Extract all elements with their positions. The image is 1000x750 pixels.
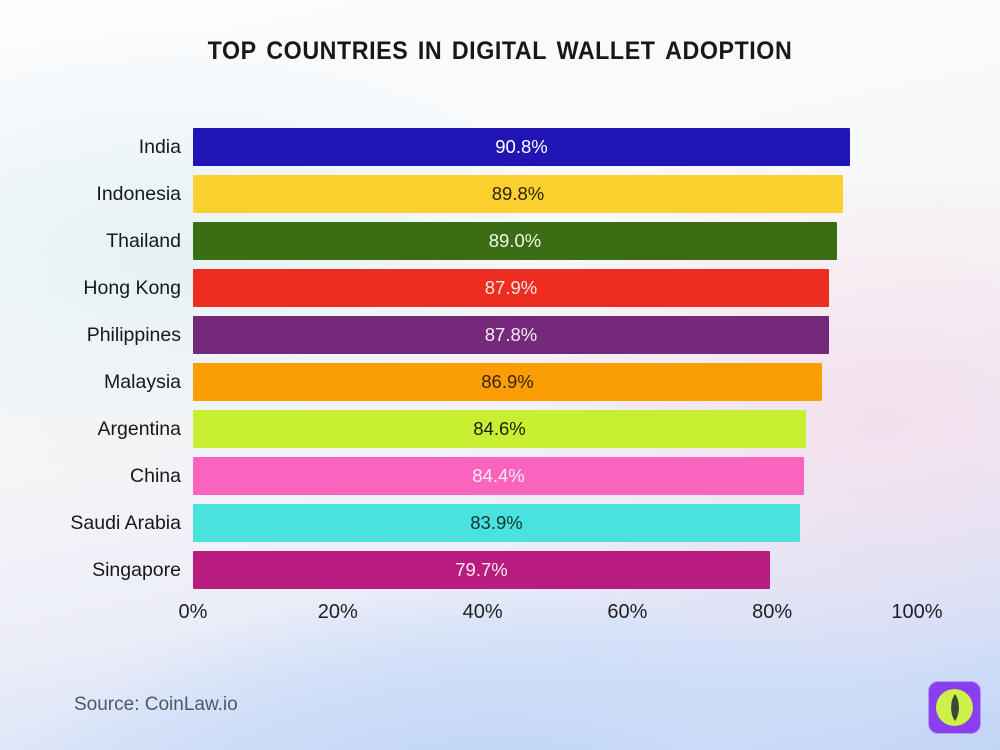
x-axis-tick-label: 20% (278, 598, 398, 626)
bar-category-label: Saudi Arabia (0, 504, 181, 542)
bar-track: 89.0% (193, 222, 917, 260)
bar-value-label: 87.8% (193, 316, 829, 354)
bar-category-label: India (0, 128, 181, 166)
bar-value-label: 83.9% (193, 504, 800, 542)
bar-category-label: Hong Kong (0, 269, 181, 307)
bar-row: Singapore79.7% (0, 551, 1000, 589)
bar-row: Saudi Arabia83.9% (0, 504, 1000, 542)
bar-track: 79.7% (193, 551, 917, 589)
bar-row: Malaysia86.9% (0, 363, 1000, 401)
bar-track: 87.8% (193, 316, 917, 354)
bar-row: Philippines87.8% (0, 316, 1000, 354)
x-axis-tick-label: 60% (567, 598, 687, 626)
bar-value-label: 90.8% (193, 128, 850, 166)
bar-row: China84.4% (0, 457, 1000, 495)
bar-row: Argentina84.6% (0, 410, 1000, 448)
bar-track: 84.4% (193, 457, 917, 495)
bar-value-label: 87.9% (193, 269, 829, 307)
bar-value-label: 84.6% (193, 410, 806, 448)
bar-category-label: Singapore (0, 551, 181, 589)
bar-value-label: 79.7% (193, 551, 770, 589)
bar-value-label: 84.4% (193, 457, 804, 495)
bar-value-label: 89.0% (193, 222, 837, 260)
bar-track: 89.8% (193, 175, 917, 213)
x-axis-tick-label: 100% (857, 598, 977, 626)
page-title: Top Countries in Digital Wallet Adoption (35, 26, 965, 70)
x-axis-tick-label: 0% (133, 598, 253, 626)
x-axis-tick-label: 40% (423, 598, 543, 626)
bar-track: 86.9% (193, 363, 917, 401)
x-axis-tick-label: 80% (712, 598, 832, 626)
coinlaw-logo (929, 682, 980, 733)
logo-leaf-icon (945, 692, 965, 723)
bar-track: 84.6% (193, 410, 917, 448)
bar-category-label: Thailand (0, 222, 181, 260)
bar-row: Indonesia89.8% (0, 175, 1000, 213)
bar-chart-plot-area: India90.8%Indonesia89.8%Thailand89.0%Hon… (0, 128, 1000, 598)
chart-canvas: Top Countries in Digital Wallet Adoption… (0, 0, 1000, 750)
bar-track: 90.8% (193, 128, 917, 166)
bar-category-label: Philippines (0, 316, 181, 354)
bar-category-label: Indonesia (0, 175, 181, 213)
bar-track: 87.9% (193, 269, 917, 307)
bar-row: Hong Kong87.9% (0, 269, 1000, 307)
bar-category-label: China (0, 457, 181, 495)
bar-category-label: Malaysia (0, 363, 181, 401)
bar-track: 83.9% (193, 504, 917, 542)
x-axis: 0%20%40%60%80%100% (0, 598, 1000, 630)
bar-row: Thailand89.0% (0, 222, 1000, 260)
bar-value-label: 86.9% (193, 363, 822, 401)
source-attribution: Source: CoinLaw.io (74, 694, 238, 716)
bar-category-label: Argentina (0, 410, 181, 448)
bar-row: India90.8% (0, 128, 1000, 166)
bar-value-label: 89.8% (193, 175, 843, 213)
